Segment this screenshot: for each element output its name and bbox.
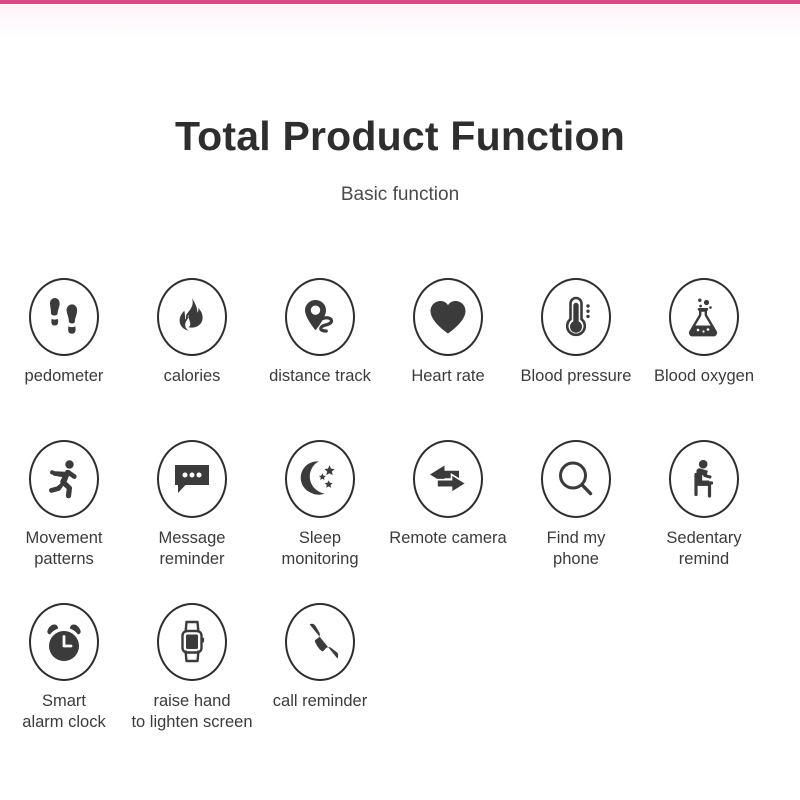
- feature-label: raise hand to lighten screen: [128, 691, 256, 733]
- feature-label: Remote camera: [384, 528, 512, 549]
- seated-person-icon: [669, 440, 739, 518]
- feature-label: Blood pressure: [521, 366, 632, 387]
- feature-item: Remote camera: [384, 440, 512, 570]
- two-arrows-icon: [413, 440, 483, 518]
- feature-item: Heart rate: [384, 278, 512, 387]
- moon-stars-icon: [285, 440, 355, 518]
- feature-item: raise hand to lighten screen: [128, 603, 256, 733]
- feature-label: call reminder: [256, 691, 384, 712]
- phone-handset-icon: [285, 603, 355, 681]
- flask-bubbles-icon: [669, 278, 739, 356]
- flame-icon: [157, 278, 227, 356]
- magnifier-icon: [541, 440, 611, 518]
- feature-label: Heart rate: [411, 366, 484, 387]
- page-subtitle: Basic function: [0, 184, 800, 206]
- feature-label: Message reminder: [128, 528, 256, 570]
- feature-label: distance track: [269, 366, 371, 387]
- feature-item: pedometer: [0, 278, 128, 387]
- feature-item: Find my phone: [512, 440, 640, 570]
- feature-row-2: Movement patterns Message reminder Sleep…: [0, 440, 800, 570]
- feature-item: Message reminder: [128, 440, 256, 570]
- feature-label: Sleep monitoring: [256, 528, 384, 570]
- feature-item: Blood pressure: [512, 278, 640, 387]
- footprints-icon: [29, 278, 99, 356]
- feature-item: calories: [128, 278, 256, 387]
- heart-icon: [413, 278, 483, 356]
- feature-label: Find my phone: [512, 528, 640, 570]
- feature-label: pedometer: [25, 366, 104, 387]
- location-pin-path-icon: [285, 278, 355, 356]
- running-person-icon: [29, 440, 99, 518]
- feature-item: Sleep monitoring: [256, 440, 384, 570]
- poster-content: Total Product Function Basic function pe…: [0, 0, 800, 800]
- feature-label: calories: [164, 366, 221, 387]
- feature-item: call reminder: [256, 603, 384, 733]
- feature-label: Smart alarm clock: [0, 691, 128, 733]
- feature-item: Blood oxygen: [640, 278, 768, 387]
- feature-item: Sedentary remind: [640, 440, 768, 570]
- smartwatch-icon: [157, 603, 227, 681]
- alarm-clock-icon: [29, 603, 99, 681]
- page-title: Total Product Function: [0, 113, 800, 160]
- feature-label: Movement patterns: [0, 528, 128, 570]
- feature-row-3: Smart alarm clock raise hand to lighten …: [0, 603, 800, 733]
- speech-bubble-icon: [157, 440, 227, 518]
- thermometer-icon: [541, 278, 611, 356]
- product-function-poster: Total Product Function Basic function pe…: [0, 0, 800, 800]
- feature-label: Blood oxygen: [654, 366, 754, 387]
- feature-row-1: pedometer calories distance track Heart …: [0, 278, 800, 387]
- feature-label: Sedentary remind: [640, 528, 768, 570]
- feature-item: Smart alarm clock: [0, 603, 128, 733]
- feature-item: distance track: [256, 278, 384, 387]
- feature-item: Movement patterns: [0, 440, 128, 570]
